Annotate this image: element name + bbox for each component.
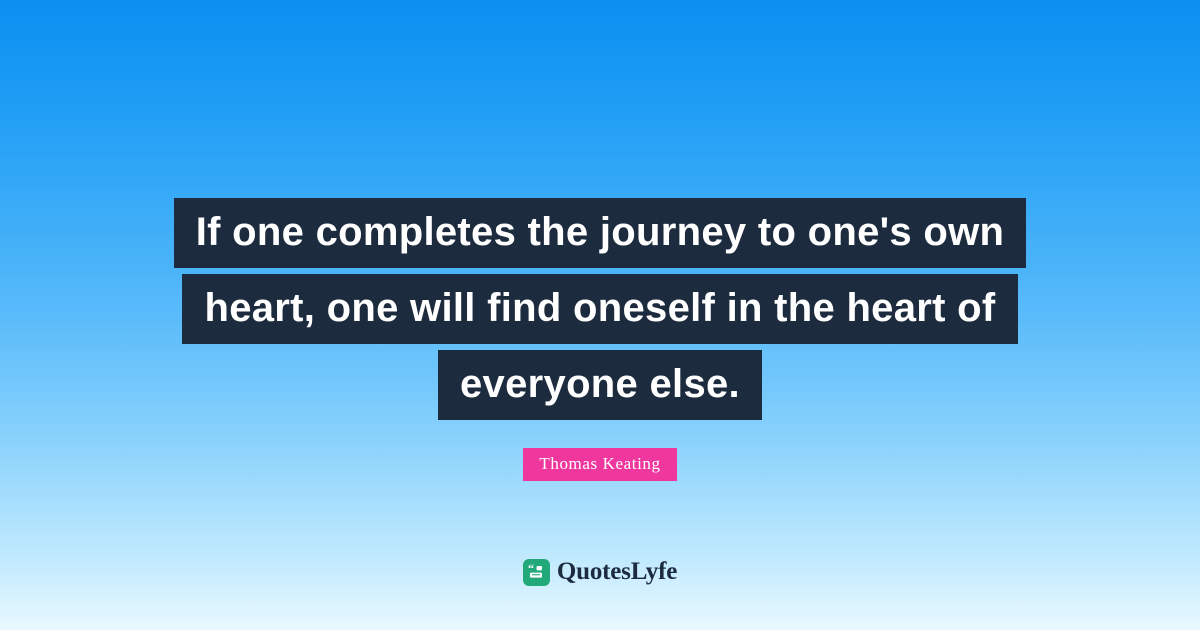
author-name: Thomas Keating [523, 448, 676, 481]
quote-line-text: everyone else. [438, 350, 762, 420]
brand-logo[interactable]: “ QuotesLyfe [0, 558, 1200, 586]
quote-card: If one completes the journey to one's ow… [0, 0, 1200, 630]
quote-line: If one completes the journey to one's ow… [0, 198, 1200, 268]
quote-line: heart, one will find oneself in the hear… [0, 274, 1200, 344]
brand-name: QuotesLyfe [557, 558, 677, 586]
quote-line: everyone else. [0, 350, 1200, 420]
quote-text-block: If one completes the journey to one's ow… [0, 198, 1200, 426]
quote-line-text: If one completes the journey to one's ow… [174, 198, 1027, 268]
author-badge: Thomas Keating [0, 448, 1200, 481]
quote-mark-icon: “ [523, 559, 550, 586]
quote-line-text: heart, one will find oneself in the hear… [182, 274, 1017, 344]
